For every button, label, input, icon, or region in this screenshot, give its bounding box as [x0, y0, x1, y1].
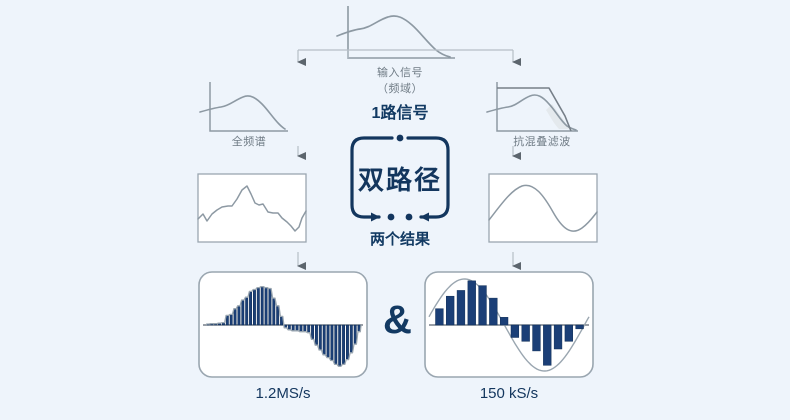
- two-results-label: 两个结果: [330, 228, 470, 249]
- high-rate-label: 1.2MS/s: [213, 385, 353, 402]
- sample-bar: [468, 281, 476, 325]
- sample-bar: [276, 306, 278, 325]
- diagram-canvas: 输入信号 （频域） 1路信号 全频谱 抗混叠滤波 双路径 两个结果 & 1.2M…: [0, 0, 790, 420]
- sample-bar: [288, 325, 290, 330]
- sample-bar: [323, 325, 325, 355]
- panel-low-rate-samples: [425, 272, 593, 377]
- sample-bar: [253, 289, 255, 325]
- low-rate-label: 150 kS/s: [439, 385, 579, 402]
- sample-bar: [261, 287, 263, 325]
- sample-bar: [489, 298, 497, 325]
- panel-noisy-waveform: [198, 174, 306, 242]
- sample-bar: [292, 325, 294, 331]
- sample-bar: [565, 325, 573, 341]
- sample-bar: [576, 325, 584, 329]
- sample-bar: [269, 289, 271, 325]
- sample-bar: [319, 325, 321, 350]
- dual-path-badge-text: 双路径: [330, 160, 470, 197]
- sample-bar: [335, 325, 337, 364]
- badge-dot-top: [397, 135, 404, 142]
- sample-bar: [350, 325, 352, 353]
- sample-bar: [354, 325, 356, 344]
- sample-bar: [331, 325, 333, 361]
- sample-bar: [265, 288, 267, 325]
- full-spectrum-label: 全频谱: [199, 133, 299, 149]
- sample-bar: [242, 300, 244, 325]
- sample-bar: [311, 325, 313, 339]
- badge-dot-right: [406, 214, 413, 221]
- input-signal-label-line1: 输入信号: [330, 64, 470, 80]
- sample-bar: [226, 315, 228, 325]
- sample-bar: [304, 325, 306, 332]
- sample-bar: [533, 325, 541, 351]
- sample-bar: [457, 290, 465, 325]
- sample-bar: [543, 325, 551, 365]
- sample-bar: [479, 286, 487, 325]
- chart-anti-alias-filter: [487, 82, 578, 131]
- diagram-svg: [0, 0, 790, 420]
- sample-bar: [338, 325, 340, 366]
- sample-bar: [257, 288, 259, 325]
- sample-bar: [249, 291, 251, 325]
- connector-top-split: [298, 50, 513, 62]
- sample-bar: [315, 325, 317, 345]
- sample-bar: [346, 325, 348, 360]
- sample-bar: [230, 314, 232, 325]
- panel-clean-sine: [489, 174, 597, 242]
- badge-dot-left: [388, 214, 395, 221]
- anti-alias-filter-label: 抗混叠滤波: [487, 133, 597, 149]
- sample-bar: [342, 325, 344, 364]
- sample-bar: [511, 325, 519, 337]
- sample-bar: [300, 325, 302, 332]
- sample-bar: [238, 306, 240, 325]
- sample-bar: [296, 325, 298, 331]
- sample-bar: [554, 325, 562, 349]
- sample-bar: [234, 309, 236, 325]
- chart-full-spectrum: [200, 82, 288, 131]
- sample-bar: [522, 325, 530, 341]
- ampersand-symbol: &: [383, 300, 412, 340]
- input-signal-label-line2: （频域）: [330, 80, 470, 96]
- sample-bar: [245, 297, 247, 325]
- sample-bar: [500, 317, 508, 325]
- one-channel-signal-label: 1路信号: [330, 99, 470, 123]
- panel-high-rate-samples: [199, 272, 367, 377]
- sample-bar: [273, 298, 275, 325]
- sample-bar: [446, 296, 454, 325]
- sample-bar: [327, 325, 329, 358]
- sample-bar: [307, 325, 309, 333]
- sample-bar: [436, 309, 444, 325]
